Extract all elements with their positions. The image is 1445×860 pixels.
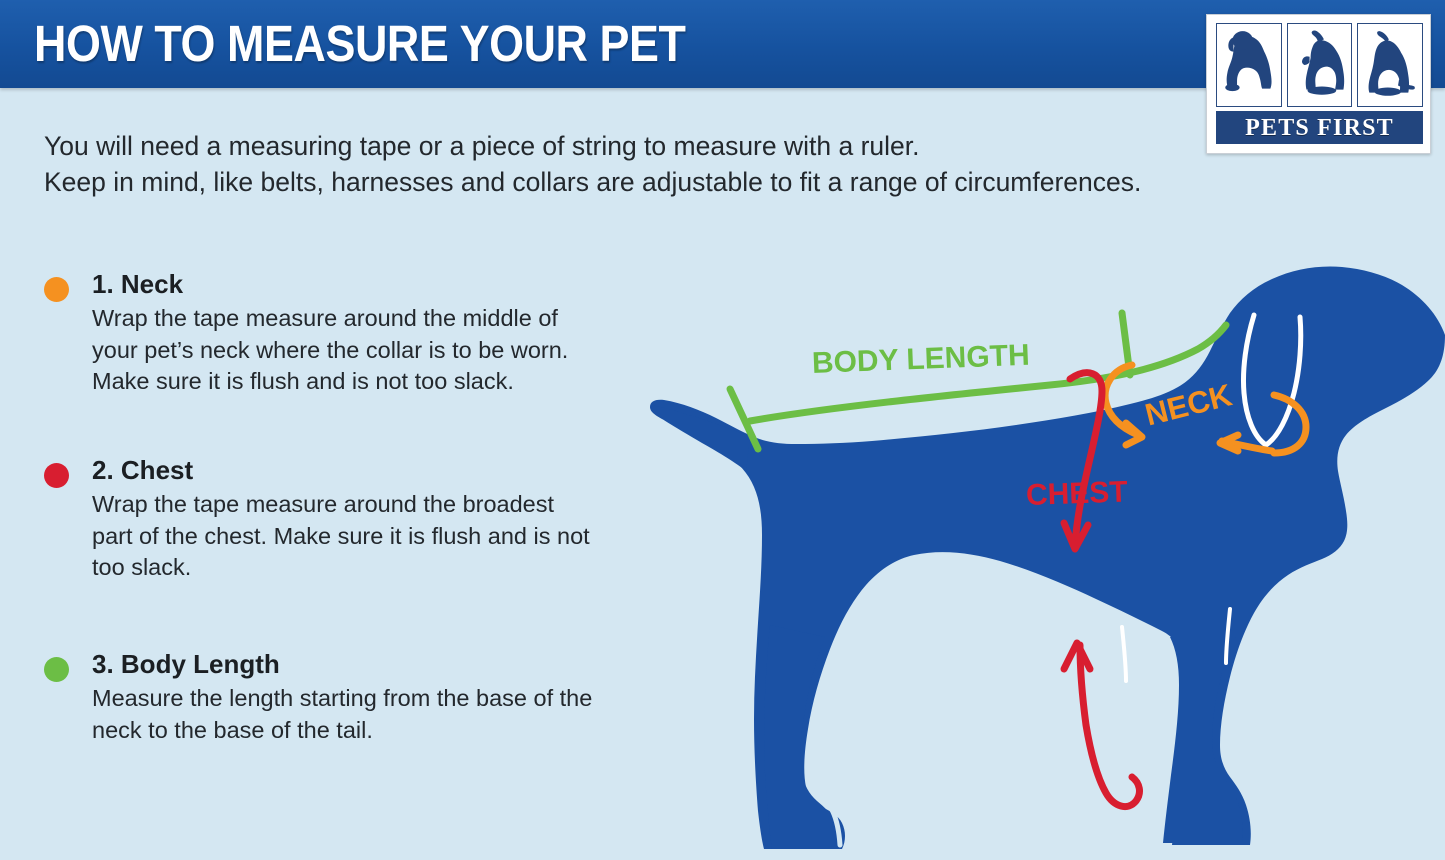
logo-panels xyxy=(1216,23,1423,107)
step-item-neck: 1. Neck Wrap the tape measure around the… xyxy=(44,268,644,398)
intro-line-1: You will need a measuring tape or a piec… xyxy=(44,128,1194,164)
step-item-chest: 2. Chest Wrap the tape measure around th… xyxy=(44,454,644,584)
dog-measurement-diagram: BODY LENGTH xyxy=(650,245,1445,860)
logo-wordmark: PETS FIRST xyxy=(1216,111,1423,144)
dog-diagram-svg xyxy=(650,245,1445,860)
intro-line-2: Keep in mind, like belts, harnesses and … xyxy=(44,164,1194,200)
step-body-chest: Wrap the tape measure around the broades… xyxy=(92,489,644,584)
step-body-line: Make sure it is flush and is not too sla… xyxy=(92,366,644,398)
dog-begging-icon xyxy=(1287,23,1353,107)
step-title-body-length: 3. Body Length xyxy=(92,648,644,681)
diagram-label-chest: CHEST xyxy=(1025,475,1128,513)
step-body-line: Wrap the tape measure around the middle … xyxy=(92,303,644,335)
intro-text: You will need a measuring tape or a piec… xyxy=(44,128,1194,200)
step-body-line: Measure the length starting from the bas… xyxy=(92,683,644,715)
logo-wordmark-text: PETS FIRST xyxy=(1245,113,1394,143)
step-body-body-length: Measure the length starting from the bas… xyxy=(92,683,644,746)
brand-logo: PETS FIRST xyxy=(1206,14,1431,154)
bullet-chest-icon xyxy=(44,463,69,488)
bullet-neck-icon xyxy=(44,277,69,302)
step-title-chest: 2. Chest xyxy=(92,454,644,487)
step-body-line: neck to the base of the tail. xyxy=(92,715,644,747)
step-title-neck: 1. Neck xyxy=(92,268,644,301)
step-item-body-length: 3. Body Length Measure the length starti… xyxy=(44,648,644,746)
bullet-body-length-icon xyxy=(44,657,69,682)
measuring-guide-page: HOW TO MEASURE YOUR PET xyxy=(0,0,1445,860)
dog-silhouette-icon xyxy=(650,267,1445,850)
step-body-line: part of the chest. Make sure it is flush… xyxy=(92,521,644,553)
logo-inner: PETS FIRST xyxy=(1216,23,1423,147)
page-title: HOW TO MEASURE YOUR PET xyxy=(34,16,686,72)
step-body-line: too slack. xyxy=(92,552,644,584)
dog-sitting-icon xyxy=(1216,23,1282,107)
step-body-line: Wrap the tape measure around the broades… xyxy=(92,489,644,521)
dog-shepherd-sitting-icon xyxy=(1357,23,1423,107)
step-body-line: your pet’s neck where the collar is to b… xyxy=(92,335,644,367)
step-body-neck: Wrap the tape measure around the middle … xyxy=(92,303,644,398)
